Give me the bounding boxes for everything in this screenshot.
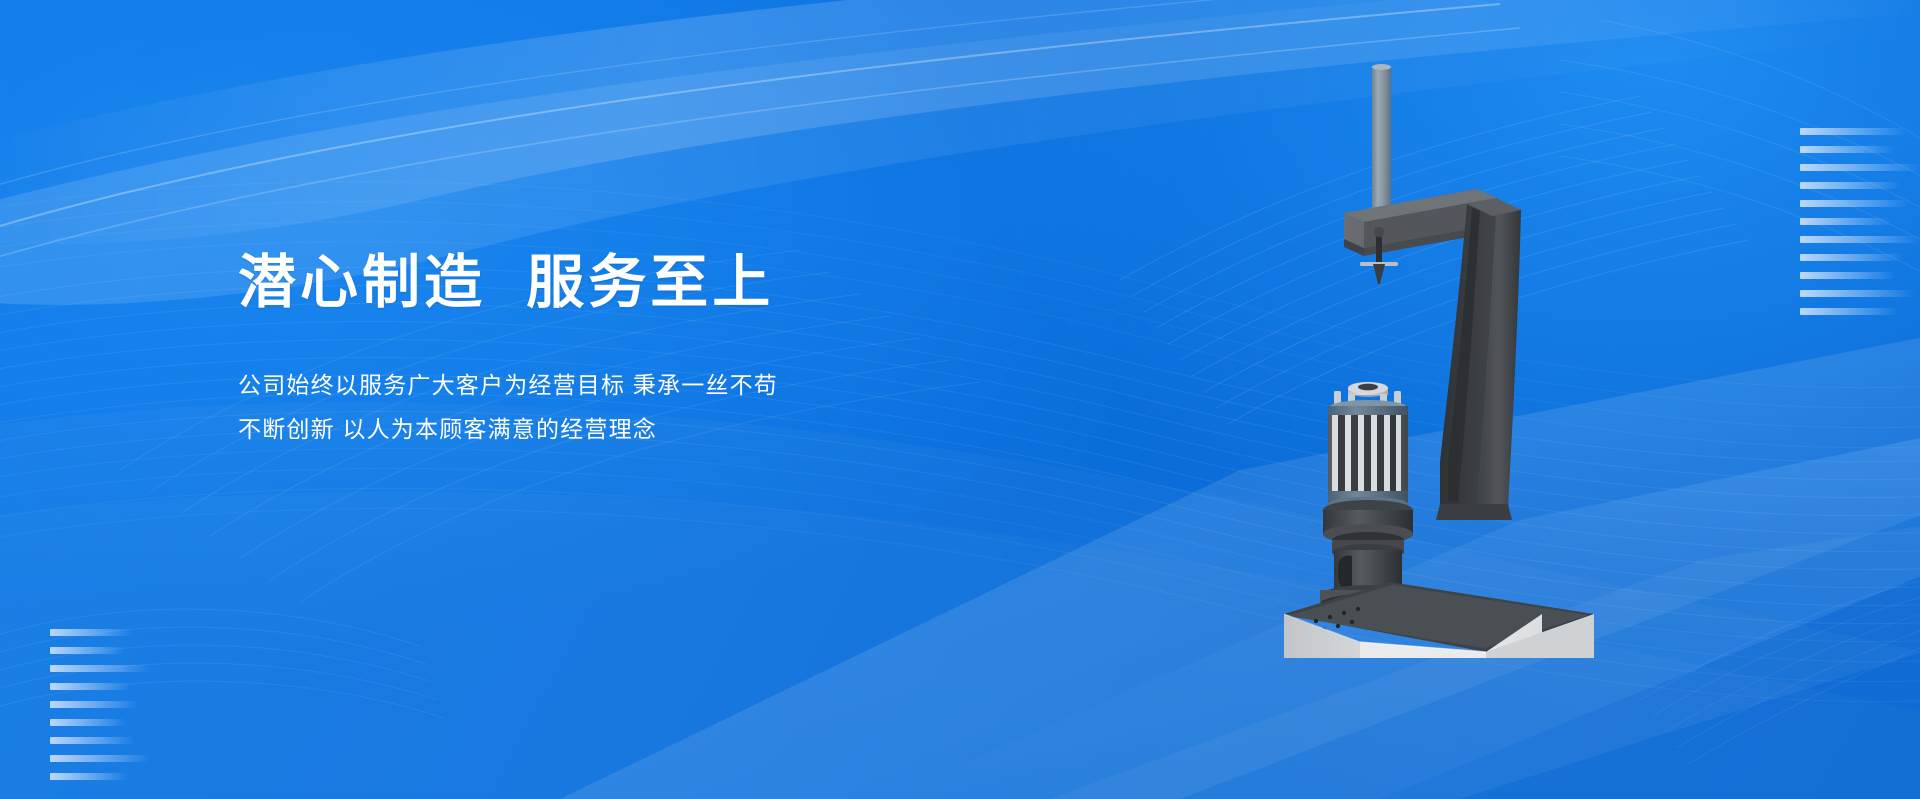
decor-bar	[1800, 254, 1903, 261]
decor-bar	[50, 629, 132, 636]
decor-bar	[1800, 146, 1894, 153]
decor-bar	[50, 683, 130, 690]
decor-bar	[50, 647, 124, 654]
subtitle-line-1: 公司始终以服务广大客户为经营目标 秉承一丝不苟	[238, 363, 1138, 407]
decor-bar	[50, 773, 128, 780]
decor-bar	[1800, 272, 1896, 279]
decor-bar	[1800, 308, 1898, 315]
hero-banner: 潜心制造 服务至上 公司始终以服务广大客户为经营目标 秉承一丝不苟 不断创新 以…	[0, 0, 1920, 799]
decor-bar	[50, 755, 150, 762]
page-title: 潜心制造 服务至上	[238, 250, 1138, 317]
machine-illustration	[1272, 58, 1602, 658]
decor-bar	[1800, 236, 1920, 243]
decor-bar	[50, 665, 150, 672]
decor-bar	[1800, 218, 1891, 225]
decor-bar	[1800, 200, 1910, 207]
decor-bar	[1800, 182, 1901, 189]
ribbed-spindle-cylinder	[1328, 382, 1408, 511]
decorative-bars-left	[50, 629, 150, 791]
decor-bar	[50, 701, 138, 708]
decor-bar	[50, 719, 126, 726]
decor-bar	[1800, 290, 1915, 297]
hero-text-block: 潜心制造 服务至上 公司始终以服务广大客户为经营目标 秉承一丝不苟 不断创新 以…	[238, 250, 1138, 451]
decor-bar	[50, 737, 134, 744]
subtitle-line-2: 不断创新 以人为本顾客满意的经营理念	[238, 407, 1138, 451]
decor-bar	[1800, 164, 1920, 171]
decor-bar	[1800, 128, 1906, 135]
hero-subtitle: 公司始终以服务广大客户为经营目标 秉承一丝不苟 不断创新 以人为本顾客满意的经营…	[238, 363, 1138, 451]
vertical-guide-rod	[1372, 64, 1391, 218]
column-support	[1436, 198, 1521, 520]
decorative-bars-right	[1800, 128, 1920, 326]
